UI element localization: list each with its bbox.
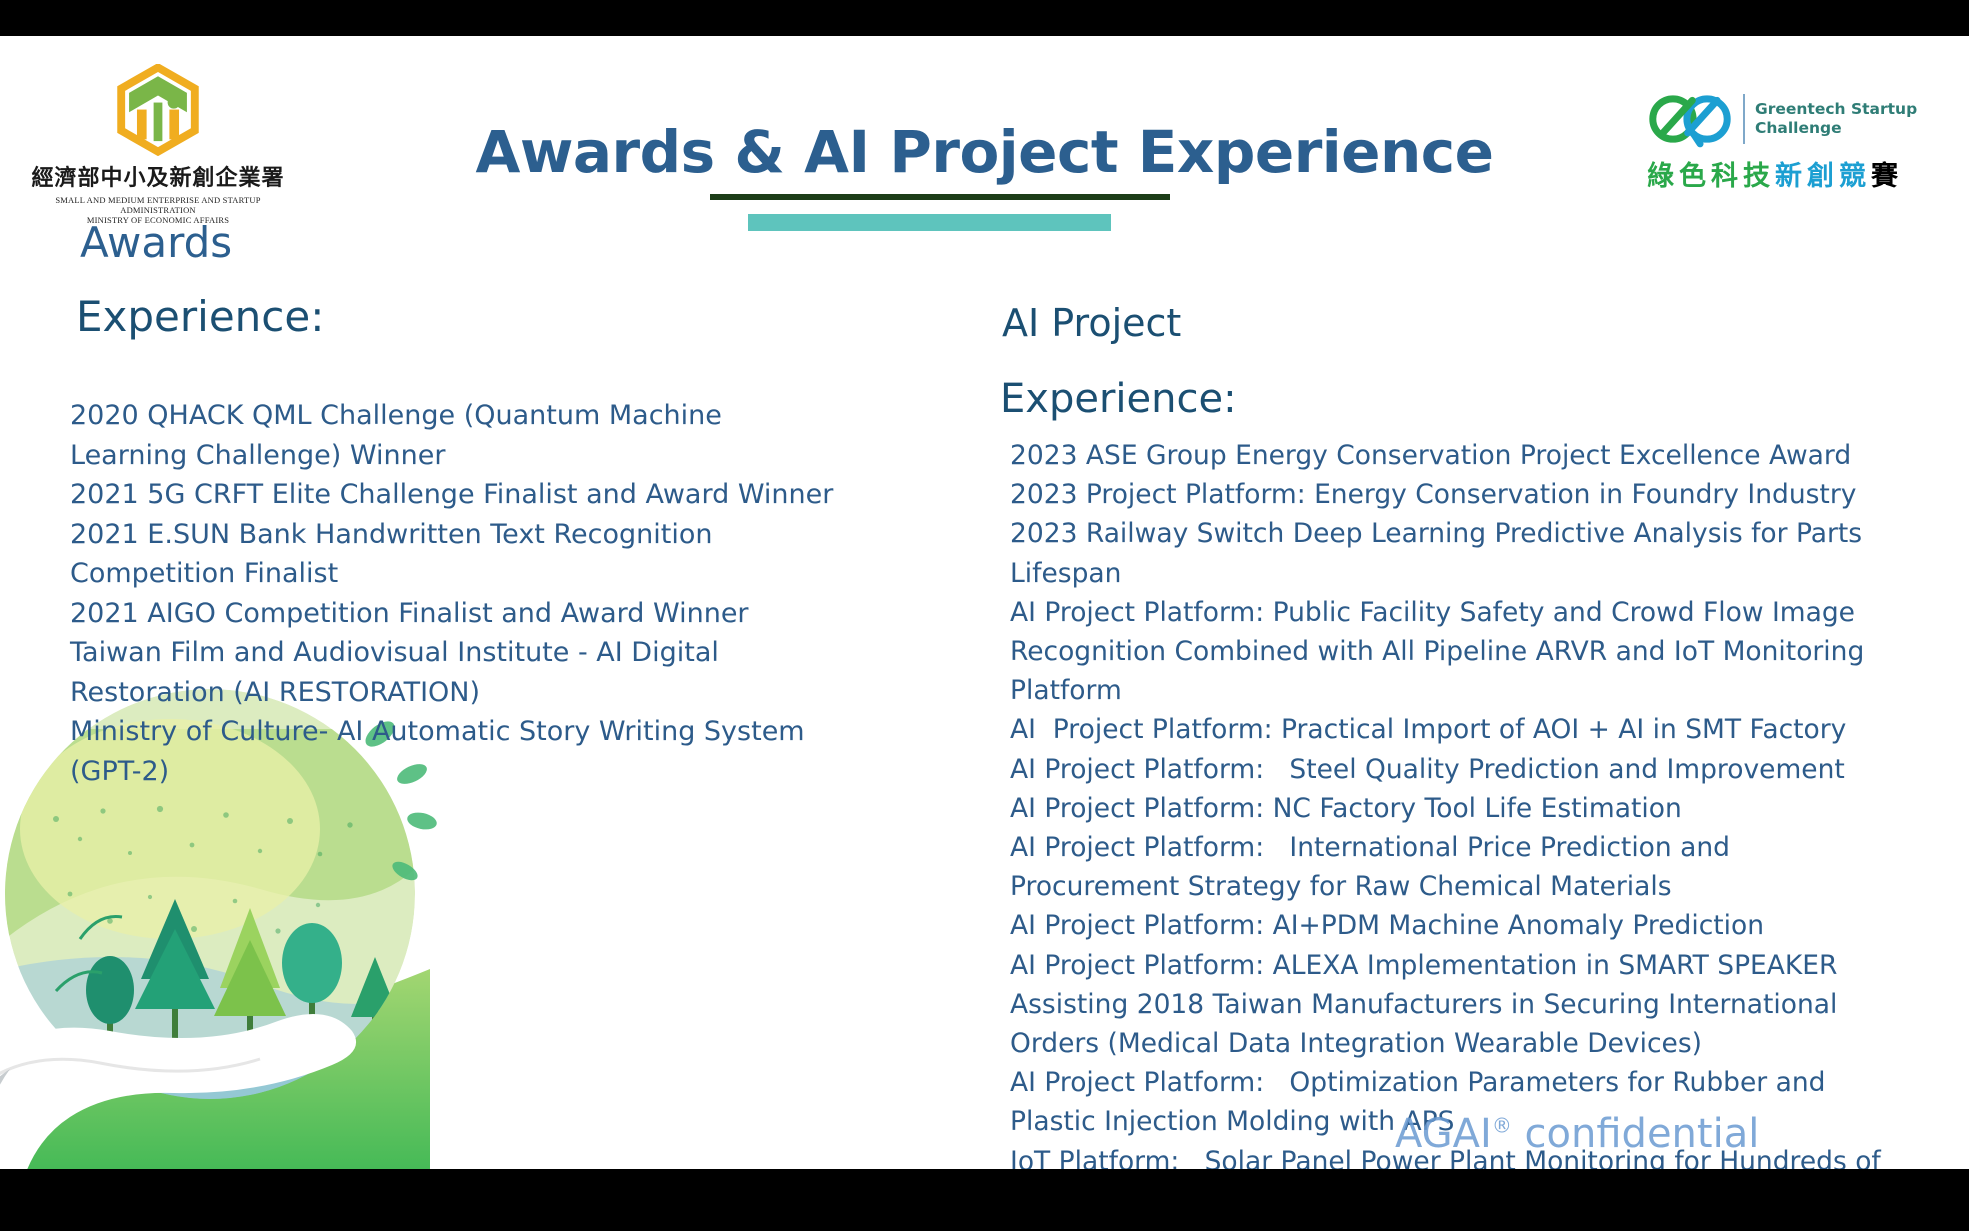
list-item: AI Project Platform: AI+PDM Machine Anom… — [1010, 906, 1920, 945]
list-item: AI Project Platform: Practical Import of… — [1010, 710, 1920, 749]
list-item: 2023 Project Platform: Energy Conservati… — [1010, 475, 1920, 514]
title-accent-bar — [748, 214, 1111, 231]
list-item: AI Project Platform: Public Facility Saf… — [1010, 593, 1920, 632]
list-item: Lifespan — [1010, 554, 1920, 593]
list-item: AI Project Platform: Optimization Parame… — [1010, 1063, 1920, 1102]
gsc-wordmark-line1: Greentech Startup — [1755, 100, 1917, 119]
list-item: Ministry of Culture- AI Automatic Story … — [70, 712, 860, 752]
sme-logo-english-line1: SMALL AND MEDIUM ENTERPRISE AND STARTUP … — [28, 195, 288, 215]
list-item: 2021 AIGO Competition Finalist and Award… — [70, 594, 860, 634]
awards-subheading: Experience: — [76, 292, 324, 341]
page-title: Awards & AI Project Experience — [0, 118, 1969, 186]
list-item: Platform — [1010, 671, 1920, 710]
list-item: AI Project Platform: ALEXA Implementatio… — [1010, 946, 1920, 985]
list-item: AI Project Platform: NC Factory Tool Lif… — [1010, 789, 1920, 828]
list-item: Orders (Medical Data Integration Wearabl… — [1010, 1024, 1920, 1063]
title-underline — [710, 194, 1170, 200]
awards-list: 2020 QHACK QML Challenge (Quantum Machin… — [70, 396, 860, 791]
list-item: IoT Platform: Solar Panel Power Plant Mo… — [1010, 1142, 1920, 1169]
list-item: AI Project Platform: Steel Quality Predi… — [1010, 750, 1920, 789]
list-item: Recognition Combined with All Pipeline A… — [1010, 632, 1920, 671]
ai-project-subheading: Experience: — [1000, 376, 1237, 422]
list-item: Restoration (AI RESTORATION) — [70, 673, 860, 713]
ai-project-list: 2023 ASE Group Energy Conservation Proje… — [1010, 436, 1920, 1169]
list-item: 2021 E.SUN Bank Handwritten Text Recogni… — [70, 515, 860, 555]
list-item: 2020 QHACK QML Challenge (Quantum Machin… — [70, 396, 860, 436]
list-item: AI Project Platform: International Price… — [1010, 828, 1920, 867]
ai-project-heading: AI Project — [1002, 301, 1181, 345]
list-item: (GPT-2) — [70, 752, 860, 792]
list-item: 2023 Railway Switch Deep Learning Predic… — [1010, 514, 1920, 553]
list-item: Learning Challenge) Winner — [70, 436, 860, 476]
list-item: 2023 ASE Group Energy Conservation Proje… — [1010, 436, 1920, 475]
slide-root: 經濟部中小及新創企業署 SMALL AND MEDIUM ENTERPRISE … — [0, 0, 1969, 1231]
slide-canvas: 經濟部中小及新創企業署 SMALL AND MEDIUM ENTERPRISE … — [0, 36, 1969, 1169]
list-item: Plastic Injection Molding with APS — [1010, 1102, 1920, 1141]
list-item: Taiwan Film and Audiovisual Institute - … — [70, 633, 860, 673]
list-item: Procurement Strategy for Raw Chemical Ma… — [1010, 867, 1920, 906]
awards-heading: Awards — [80, 218, 232, 267]
list-item: Competition Finalist — [70, 554, 860, 594]
list-item: 2021 5G CRFT Elite Challenge Finalist an… — [70, 475, 860, 515]
list-item: Assisting 2018 Taiwan Manufacturers in S… — [1010, 985, 1920, 1024]
